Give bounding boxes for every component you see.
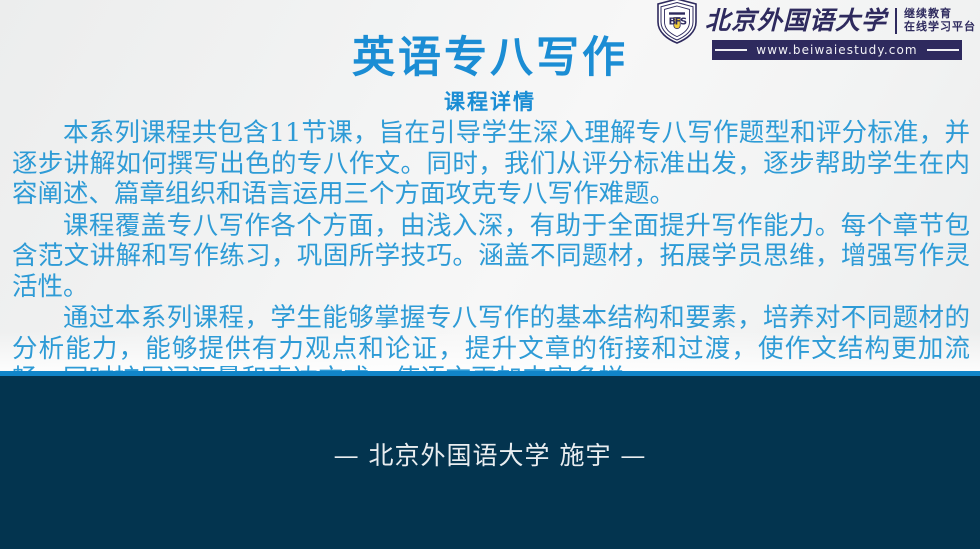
paragraph: 本系列课程共包含11节课，旨在引导学生深入理解专八写作题型和评分标准，并逐步讲解… [12, 118, 970, 210]
svg-text:S: S [680, 17, 687, 28]
paragraph: 课程覆盖专八写作各个方面，由浅入深，有助于全面提升写作能力。每个章节包含范文讲解… [12, 211, 970, 303]
page-title: 英语专八写作 [0, 32, 980, 84]
tagline-line-1: 继续教育 [904, 8, 976, 21]
brand-divider [895, 8, 897, 34]
lower-navy-panel: — 北京外国语大学 施宇 — [0, 376, 980, 549]
brand-tagline: 继续教育 在线学习平台 [904, 8, 976, 34]
author-attribution: — 北京外国语大学 施宇 — [0, 436, 980, 472]
page-subtitle: 课程详情 [0, 88, 980, 116]
course-description: 本系列课程共包含11节课，旨在引导学生深入理解专八写作题型和评分标准，并逐步讲解… [12, 118, 970, 396]
course-detail-slide: B F S 北京外国语大学 继续教育 在线学习平台 www.beiwaiestu… [0, 0, 980, 549]
